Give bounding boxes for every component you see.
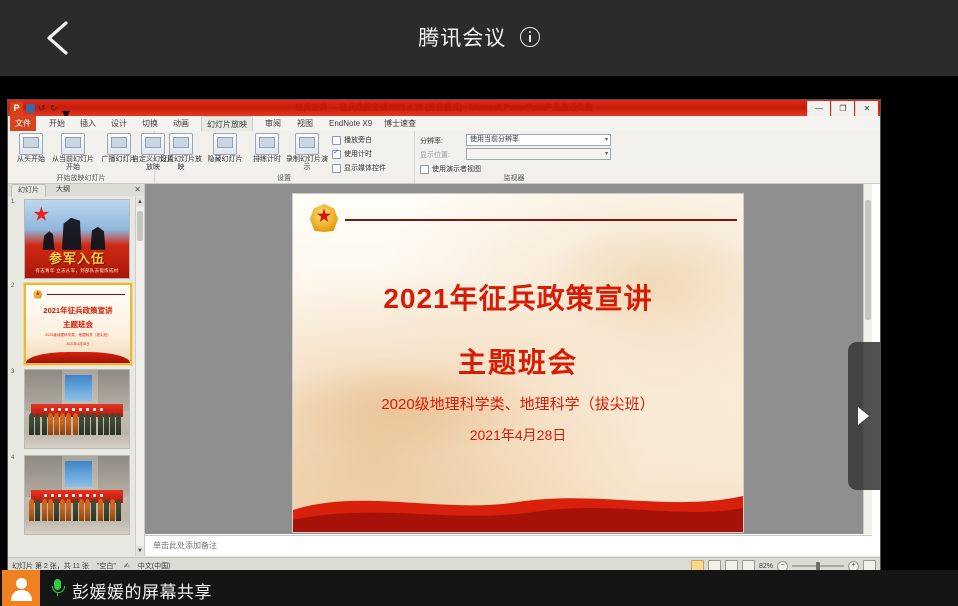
bottom-status-bar: 彭媛媛的屏幕共享 [0,570,958,606]
show-on-combo[interactable] [466,148,611,160]
checkbox-box-play-narration[interactable] [332,136,341,145]
zoom-slider-knob[interactable] [816,562,820,570]
tab-file[interactable]: 文件 [10,116,36,131]
thumbnail-slide-4[interactable] [24,455,130,535]
thumbnail-number-1: 1 [11,199,14,205]
thumbnail-number-2: 2 [11,283,14,289]
tab-transitions[interactable]: 切换 [137,116,163,131]
resolution-combo[interactable]: 使用当前分辨率 [466,134,611,146]
tab-slides[interactable]: 幻灯片 [11,184,46,197]
person-avatar-icon[interactable] [2,570,40,606]
shared-screen-area[interactable]: P ↺ ↻ ▾ 征兵宣讲 — 征兵政策宣讲2021.4.28 [兼容模式] - … [0,76,958,570]
thumbnail-line3-2: 2020级地理科学类、地理科学（拔尖班） [26,333,130,338]
checkbox-use-timings[interactable]: 使用计时 [332,149,372,159]
ground [25,520,129,534]
slide-date: 2021年4月28日 [293,425,743,445]
microphone-icon[interactable] [52,579,63,597]
thumbnail-number-4: 4 [11,455,14,461]
thumbnail-line2-2: 主题班会 [26,319,130,330]
slide-editing-stage[interactable]: 2021年征兵政策宣讲 主题班会 2020级地理科学类、地理科学（拔尖班） 20… [145,184,872,534]
group-label-setup: 设置 [154,173,414,183]
show-on-label: 显示位置: [420,150,450,160]
thumbnail-art-1: 参军入伍 有志青年 立志从军，到部队去锻炼成材 [25,200,129,278]
from-beginning-button[interactable]: 从头开始 [8,133,54,164]
ribbon-group-monitors: 分辨率: 使用当前分辨率 显示位置: 使用演示者视图 监视器 [414,131,614,183]
thumbnail-art-4 [25,456,129,534]
ribbon-tab-row[interactable]: 文件 开始 插入 设计 切换 动画 幻灯片放映 审阅 视图 EndNote X9… [8,116,880,132]
sky-patch [65,375,92,402]
mic-arc [52,586,65,593]
thumbnail-number-3: 3 [11,369,14,375]
ppt-body: 幻灯片 大纲 ✕ 1 参军入伍 有志青年 立志从军，到部队去 [8,184,880,556]
people-row [29,413,125,435]
thumbnail-art-2: 2021年征兵政策宣讲 主题班会 2020级地理科学类、地理科学（拔尖班） 20… [26,285,130,363]
hide-slide-label: 隐藏幻灯片 [202,156,248,164]
info-circle-icon[interactable] [520,27,540,47]
thumbnail-line1-2: 2021年征兵政策宣讲 [26,305,130,316]
minimize-icon[interactable]: — [807,101,830,116]
thumbnail-slide-2[interactable]: 2021年征兵政策宣讲 主题班会 2020级地理科学类、地理科学（拔尖班） 20… [24,283,132,365]
screen-share-viewer: 腾讯会议 P ↺ ↻ ▾ 征兵宣讲 — 征兵政策宣讲2021.4.28 [兼容模… [0,0,958,606]
ppt-title-text: 征兵宣讲 — 征兵政策宣讲2021.4.28 [兼容模式] - Microsof… [8,102,880,113]
thumbnail-subtitle-1: 有志青年 立志从军，到部队去锻炼成材 [25,268,129,274]
slideshow-from-current-icon [61,133,85,155]
meeting-header: 腾讯会议 [0,0,958,76]
thumbnail-title-1: 参军入伍 [25,248,129,267]
slide-pane-tabs[interactable]: 幻灯片 大纲 ✕ [8,184,144,196]
resolution-label: 分辨率: [420,136,443,146]
from-current-slide-button[interactable]: 从当前幻灯片开始 [50,133,96,172]
setup-slideshow-label: 设置幻灯片放映 [158,156,204,172]
red-wave-decoration [293,480,743,532]
close-icon[interactable]: ✕ [855,101,878,116]
setup-slideshow-icon [169,133,193,155]
record-slideshow-label: 录制幻灯片演示 [284,156,330,172]
thumbnail-line4-2: 2021年4月28日 [26,341,130,346]
play-triangle-icon [858,407,869,425]
slide-pane-scrollbar[interactable]: ▲ ▼ [135,197,144,556]
hide-slide-icon [213,133,237,155]
ribbon-group-start-slideshow: 从头开始 从当前幻灯片开始 广播幻灯片 自定义幻灯片放映 开始放映幻灯片 [8,131,155,183]
tab-endnote[interactable]: EndNote X9 [324,116,377,131]
avatar-head [16,578,27,589]
thumbnail-art-3 [25,370,129,448]
thumbnail-slide-3[interactable] [24,369,130,449]
tab-home[interactable]: 开始 [44,116,70,131]
tab-view[interactable]: 视图 [292,116,318,131]
window-controls[interactable]: — ❐ ✕ [807,100,878,116]
people-row [29,499,125,521]
notes-placeholder[interactable]: 单击此处添加备注 [145,535,872,556]
group-label-monitors: 监视器 [414,173,614,183]
tab-design[interactable]: 设计 [106,116,132,131]
maximize-icon[interactable]: ❐ [831,101,854,116]
zoom-level[interactable]: 82% [759,563,773,570]
scroll-thumb[interactable] [137,211,143,241]
expand-panel-tab[interactable] [848,342,880,490]
thumbnail-list[interactable]: 1 参军入伍 有志青年 立志从军，到部队去锻炼成材 2 [8,197,136,556]
current-slide[interactable]: 2021年征兵政策宣讲 主题班会 2020级地理科学类、地理科学（拔尖班） 20… [292,193,744,533]
checkbox-box-use-timings[interactable] [332,150,341,159]
mic-stem [57,592,59,596]
record-slideshow-button[interactable]: 录制幻灯片演示 [284,133,330,172]
red-wave-decoration [26,352,130,363]
header-rule [345,219,737,221]
checkbox-play-narration[interactable]: 播放旁白 [332,135,372,145]
from-beginning-label: 从头开始 [8,156,54,164]
meeting-title-wrap: 腾讯会议 [0,22,958,52]
hide-slide-button[interactable]: 隐藏幻灯片 [202,133,248,164]
slide-title-line2: 主题班会 [293,341,743,381]
slide-subtitle: 2020级地理科学类、地理科学（拔尖班） [293,393,743,414]
avatar-body [11,590,32,601]
ribbon[interactable]: 从头开始 从当前幻灯片开始 广播幻灯片 自定义幻灯片放映 开始放映幻灯片 [8,131,880,184]
thumbnail-slide-1[interactable]: 参军入伍 有志青年 立志从军，到部队去锻炼成材 [24,199,130,279]
tab-doctor[interactable]: 博士速查 [379,116,421,131]
sky-patch [65,461,92,488]
group-label-start-slideshow: 开始放映幻灯片 [8,173,154,183]
record-slideshow-icon [295,133,319,155]
header-rule [47,294,125,295]
checkbox-label-use-timings: 使用计时 [344,149,372,159]
screen-share-label: 彭媛媛的屏幕共享 [72,578,212,603]
powerpoint-window: P ↺ ↻ ▾ 征兵宣讲 — 征兵政策宣讲2021.4.28 [兼容模式] - … [8,100,880,572]
ribbon-group-setup: 设置幻灯片放映 隐藏幻灯片 排练计时 录制幻灯片演示 [154,131,415,183]
checkbox-box-show-media-controls[interactable] [332,164,341,173]
setup-slideshow-button[interactable]: 设置幻灯片放映 [158,133,204,172]
rehearse-timings-icon [255,133,279,155]
ground [25,434,129,448]
scroll-down-icon[interactable]: ▼ [136,546,144,556]
broadcast-slideshow-icon [107,133,131,155]
scroll-up-icon[interactable]: ▲ [136,197,144,207]
ppt-title-bar: P ↺ ↻ ▾ 征兵宣讲 — 征兵政策宣讲2021.4.28 [兼容模式] - … [8,100,880,116]
pla-emblem-icon [310,204,338,232]
tab-animations[interactable]: 动画 [168,116,194,131]
checkbox-label-play-narration: 播放旁白 [344,135,372,145]
tab-outline[interactable]: 大纲 [50,184,76,196]
meeting-title: 腾讯会议 [418,22,506,52]
slide-title-line1: 2021年征兵政策宣讲 [293,277,743,317]
checkbox-label-show-media-controls: 显示媒体控件 [344,163,386,173]
tab-insert[interactable]: 插入 [75,116,101,131]
from-current-slide-label: 从当前幻灯片开始 [50,156,96,172]
slide-thumbnail-pane[interactable]: 幻灯片 大纲 ✕ 1 参军入伍 有志青年 立志从军，到部队去 [8,184,145,556]
close-pane-icon[interactable]: ✕ [134,185,141,194]
spellcheck-icon[interactable]: ✍ [124,562,130,570]
slideshow-from-start-icon [19,133,43,155]
stage-scroll-thumb[interactable] [865,200,871,320]
checkbox-show-media-controls[interactable]: 显示媒体控件 [332,163,386,173]
tab-review[interactable]: 审阅 [260,116,286,131]
